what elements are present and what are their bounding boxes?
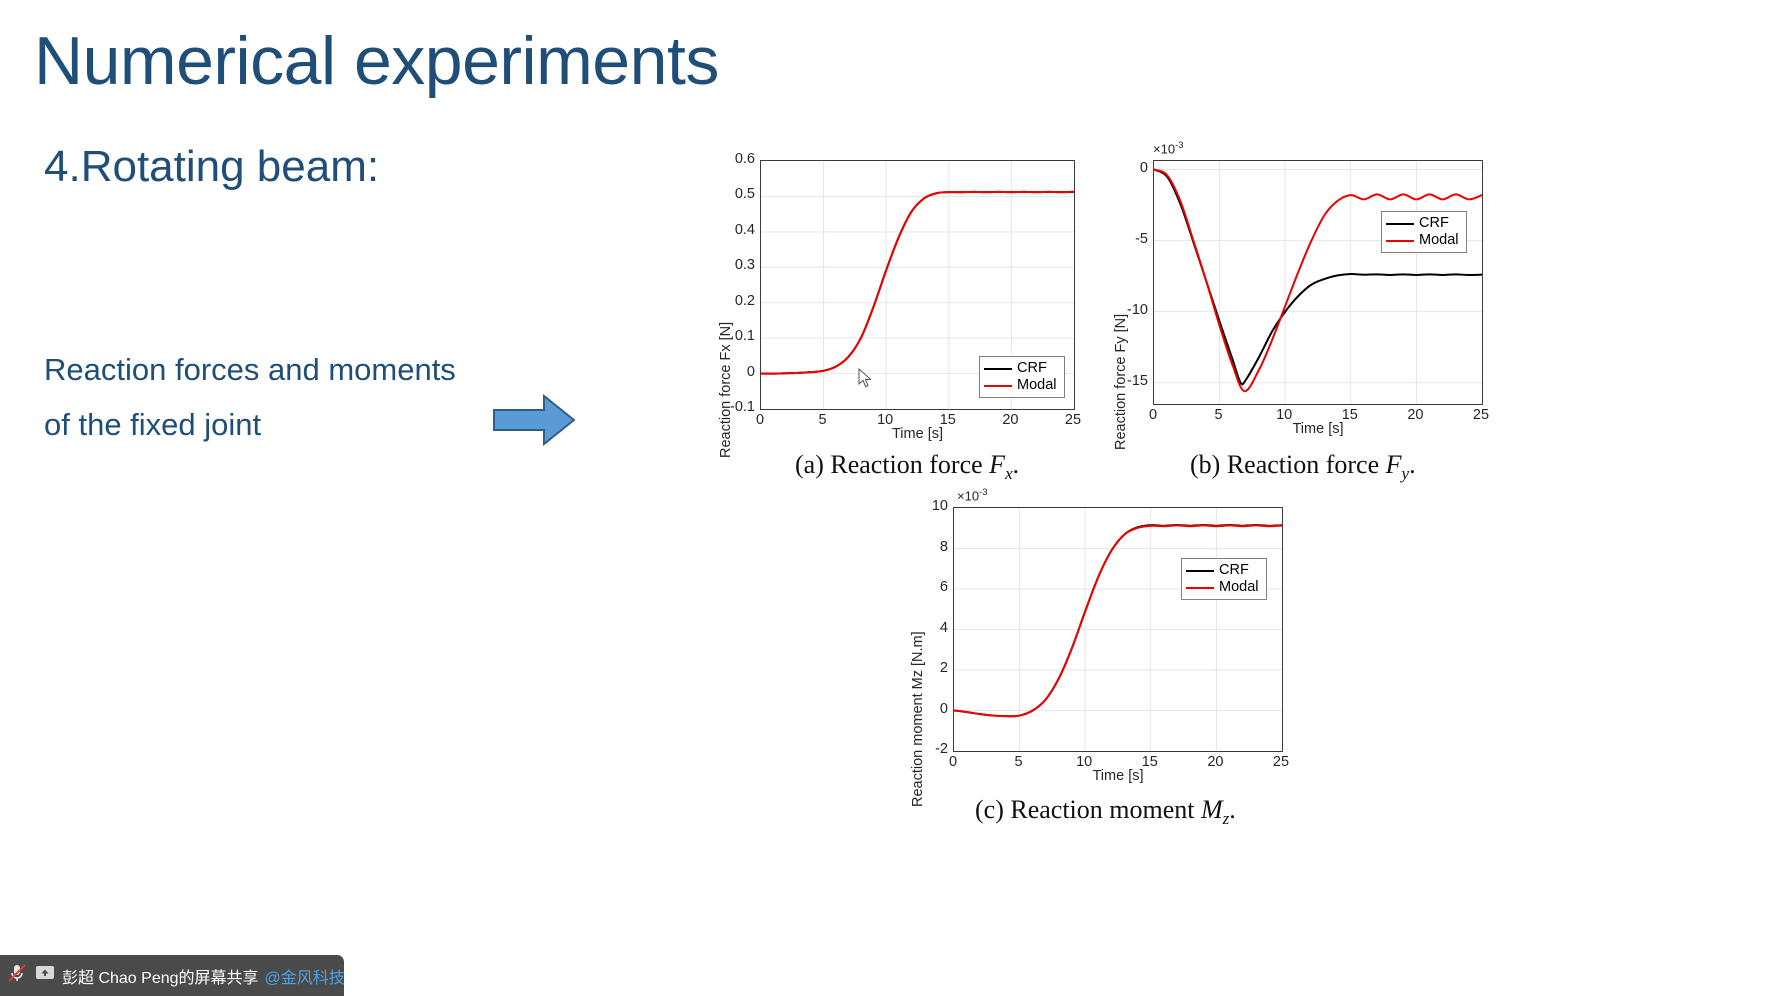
y-tick-label: -5 [1105,231,1148,247]
figure-c-caption: (c) Reaction moment Mz. [975,795,1236,829]
chart-legend: CRFModal [979,356,1065,398]
page-title: Numerical experiments [34,26,719,97]
x-tick-label: 5 [1199,407,1239,423]
figure-a-reaction-force-fx: Reaction force Fx [N] Time [s] 051015202… [700,148,1090,448]
legend-swatch-crf [984,368,1012,370]
x-tick-label: 25 [1261,754,1301,770]
screen-share-account: @金风科技 [265,964,345,988]
figure-c-plot-area [953,507,1283,752]
x-tick-label: 5 [803,412,843,428]
figure-b-reaction-force-fy: Reaction force Fy [N] ×10-3 Time [s] 051… [1095,140,1485,450]
x-tick-label: 5 [999,754,1039,770]
y-tick-label: 0.6 [712,151,755,167]
legend-swatch-modal [1386,240,1414,242]
y-tick-label: 8 [905,539,948,555]
figure-c-reaction-moment-mz: Reaction moment Mz [N.m] ×10-3 Time [s] … [895,487,1295,787]
legend-swatch-modal [1186,587,1214,589]
section-subtitle: 4.Rotating beam: [44,142,379,192]
legend-swatch-crf [1186,570,1214,572]
x-tick-label: 10 [1064,754,1104,770]
x-tick-label: 10 [865,412,905,428]
legend-label-modal: Modal [1017,378,1057,393]
body-text-line-1: Reaction forces and moments [44,352,456,388]
legend-label-crf: CRF [1219,563,1249,578]
x-tick-label: 15 [1330,407,1370,423]
x-tick-label: 25 [1053,412,1093,428]
figure-c-exponent: ×10-3 [957,487,988,503]
y-tick-label: 0.5 [712,186,755,202]
chart-legend: CRFModal [1181,558,1267,600]
mouse-cursor-icon [858,368,874,390]
legend-item: Modal [1386,232,1460,249]
mic-muted-icon[interactable] [6,962,28,989]
legend-swatch-modal [984,385,1012,387]
figure-a-caption: (a) Reaction force Fx. [795,450,1019,484]
y-tick-label: 10 [905,498,948,514]
legend-item: Modal [984,377,1058,394]
y-tick-label: 2 [905,660,948,676]
y-tick-label: 0 [712,364,755,380]
right-arrow-icon [492,392,576,448]
y-tick-label: 0 [1105,160,1148,176]
x-tick-label: 20 [1395,407,1435,423]
legend-item: CRF [984,360,1058,377]
y-tick-label: -2 [905,741,948,757]
legend-label-crf: CRF [1419,216,1449,231]
figure-c-xlabel: Time [s] [953,768,1283,784]
figure-b-caption: (b) Reaction force Fy. [1190,450,1416,484]
x-tick-label: 20 [1195,754,1235,770]
x-tick-label: 25 [1461,407,1501,423]
presentation-slide: Numerical experiments 4.Rotating beam: R… [0,0,1768,996]
legend-label-modal: Modal [1419,233,1459,248]
legend-label-modal: Modal [1219,580,1259,595]
x-tick-label: 0 [1133,407,1173,423]
body-text-line-2: of the fixed joint [44,407,261,443]
legend-item: CRF [1386,215,1460,232]
y-tick-label: 0 [905,701,948,717]
y-tick-label: -10 [1105,302,1148,318]
y-tick-label: 6 [905,579,948,595]
legend-label-crf: CRF [1017,361,1047,376]
y-tick-label: 0.3 [712,257,755,273]
y-tick-label: 0.2 [712,293,755,309]
y-tick-label: 4 [905,620,948,636]
legend-item: CRF [1186,562,1260,579]
figure-a-xlabel: Time [s] [760,426,1075,442]
x-tick-label: 10 [1264,407,1304,423]
figure-b-exponent: ×10-3 [1153,140,1184,156]
chart-legend: CRFModal [1381,211,1467,253]
y-tick-label: 0.4 [712,222,755,238]
y-tick-label: -15 [1105,373,1148,389]
screen-share-taskbar[interactable]: 彭超 Chao Peng的屏幕共享 @金风科技 [0,955,344,996]
legend-swatch-crf [1386,223,1414,225]
figure-b-xlabel: Time [s] [1153,421,1483,437]
screen-share-label: 彭超 Chao Peng的屏幕共享 [62,964,259,988]
y-tick-label: -0.1 [712,399,755,415]
x-tick-label: 15 [1130,754,1170,770]
x-tick-label: 20 [990,412,1030,428]
legend-item: Modal [1186,579,1260,596]
screen-share-icon[interactable] [34,962,56,989]
y-tick-label: 0.1 [712,328,755,344]
figure-b-plot-area [1153,160,1483,405]
x-tick-label: 15 [928,412,968,428]
